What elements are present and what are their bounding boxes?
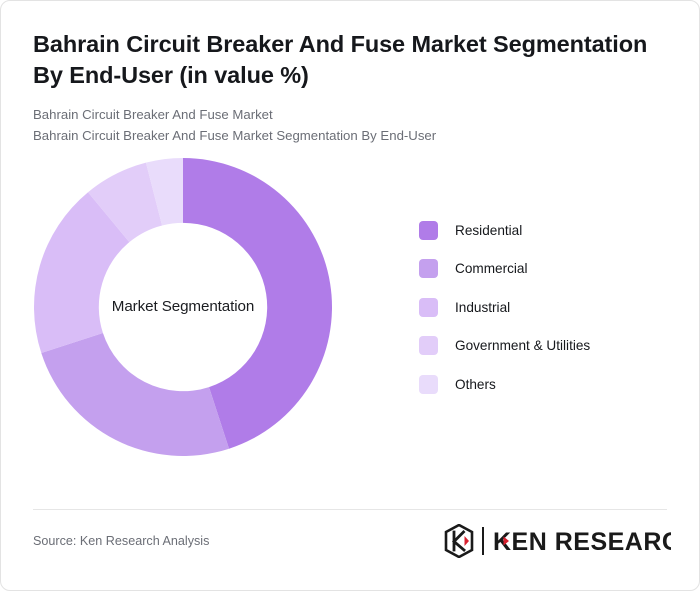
- subtitle-group: Bahrain Circuit Breaker And Fuse Market …: [33, 105, 667, 147]
- legend-label: Others: [455, 377, 496, 392]
- logo-svg: KEN RESEARCH: [443, 524, 671, 558]
- chart-legend: ResidentialCommercialIndustrialGovernmen…: [419, 211, 679, 404]
- page-title: Bahrain Circuit Breaker And Fuse Market …: [33, 29, 667, 91]
- legend-swatch: [419, 221, 438, 240]
- logo-wordmark: KEN RESEARCH: [493, 528, 671, 556]
- subtitle-market: Bahrain Circuit Breaker And Fuse Market: [33, 105, 667, 126]
- legend-swatch: [419, 259, 438, 278]
- footer-divider: [33, 509, 667, 510]
- chart-footer: Source: Ken Research Analysis KEN RESEAR…: [33, 520, 671, 562]
- legend-item[interactable]: Industrial: [419, 288, 679, 327]
- legend-item[interactable]: Others: [419, 365, 679, 404]
- donut-slice[interactable]: [41, 333, 229, 456]
- legend-label: Industrial: [455, 300, 510, 315]
- ken-research-logo: KEN RESEARCH: [443, 524, 671, 558]
- legend-swatch: [419, 336, 438, 355]
- logo-hexagon-mark: [446, 525, 472, 557]
- legend-item[interactable]: Commercial: [419, 249, 679, 288]
- legend-swatch: [419, 298, 438, 317]
- chart-header: Bahrain Circuit Breaker And Fuse Market …: [1, 1, 699, 147]
- legend-swatch: [419, 375, 438, 394]
- subtitle-segmentation: Bahrain Circuit Breaker And Fuse Market …: [33, 126, 667, 147]
- legend-item[interactable]: Government & Utilities: [419, 327, 679, 366]
- svg-text:KEN RESEARCH: KEN RESEARCH: [493, 528, 671, 556]
- donut-slice-group: [34, 158, 332, 456]
- donut-svg: [33, 157, 333, 457]
- chart-card: Bahrain Circuit Breaker And Fuse Market …: [0, 0, 700, 591]
- legend-label: Government & Utilities: [455, 338, 590, 353]
- logo-separator-bar: [482, 527, 484, 555]
- legend-item[interactable]: Residential: [419, 211, 679, 250]
- legend-label: Commercial: [455, 261, 528, 276]
- donut-chart: Market Segmentation: [33, 157, 333, 457]
- legend-label: Residential: [455, 223, 522, 238]
- source-text: Source: Ken Research Analysis: [33, 534, 209, 548]
- chart-body: Market Segmentation ResidentialCommercia…: [1, 147, 699, 477]
